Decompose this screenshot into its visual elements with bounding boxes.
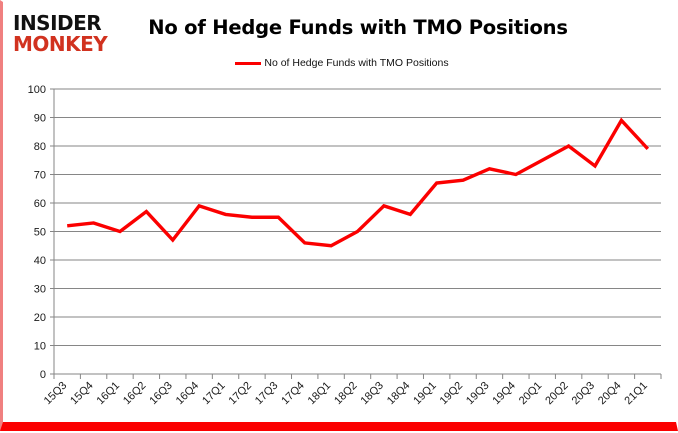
x-axis-label: 16Q2 <box>121 380 149 408</box>
x-axis-label: 18Q1 <box>306 380 334 408</box>
x-axis-label: 15Q3 <box>42 380 70 408</box>
x-axis-label: 20Q3 <box>570 380 598 408</box>
x-axis-label: 19Q1 <box>411 380 439 408</box>
insider-monkey-logo: INSIDER MONKEY <box>13 13 133 54</box>
x-axis-label: 20Q1 <box>517 380 545 408</box>
x-axis-label: 19Q3 <box>464 380 492 408</box>
x-axis-label: 19Q4 <box>490 380 518 408</box>
x-axis-label: 17Q2 <box>227 380 255 408</box>
y-axis-label: 30 <box>34 284 46 296</box>
y-axis-label: 60 <box>34 198 46 210</box>
x-axis-label: 18Q2 <box>332 380 360 408</box>
x-axis-label: 20Q2 <box>543 380 571 408</box>
logo-line-1: INSIDER <box>13 13 133 33</box>
y-axis-label: 80 <box>34 141 46 153</box>
chart-title: No of Hedge Funds with TMO Positions <box>123 16 593 39</box>
x-axis-label: 20Q4 <box>596 380 624 408</box>
x-axis-label: 16Q1 <box>95 380 123 408</box>
x-axis-label: 17Q3 <box>253 380 281 408</box>
y-axis-label: 70 <box>34 170 46 182</box>
x-axis-label: 21Q1 <box>622 380 650 408</box>
y-axis-label: 10 <box>34 341 46 353</box>
x-axis-label: 16Q4 <box>174 380 202 408</box>
y-axis-label: 20 <box>34 312 46 324</box>
legend-swatch-icon <box>235 62 261 65</box>
x-axis-label: 17Q4 <box>279 380 307 408</box>
y-axis-label: 0 <box>40 369 46 381</box>
x-axis-label: 19Q2 <box>438 380 466 408</box>
x-axis-label: 18Q4 <box>385 380 413 408</box>
x-axis-label: 18Q3 <box>358 380 386 408</box>
x-axis-label: 16Q3 <box>147 380 175 408</box>
logo-line-2: MONKEY <box>13 34 133 54</box>
legend-label: No of Hedge Funds with TMO Positions <box>264 57 448 69</box>
y-axis-label: 90 <box>34 113 46 125</box>
y-axis-label: 50 <box>34 227 46 239</box>
data-series-line <box>67 120 648 245</box>
x-axis-label: 17Q1 <box>200 380 228 408</box>
chart-legend: No of Hedge Funds with TMO Positions <box>3 57 678 69</box>
y-axis-label: 40 <box>34 255 46 267</box>
x-axis-label: 15Q4 <box>68 380 96 408</box>
chart-frame: INSIDER MONKEY No of Hedge Funds with TM… <box>0 0 678 431</box>
y-axis-label: 100 <box>28 84 46 96</box>
